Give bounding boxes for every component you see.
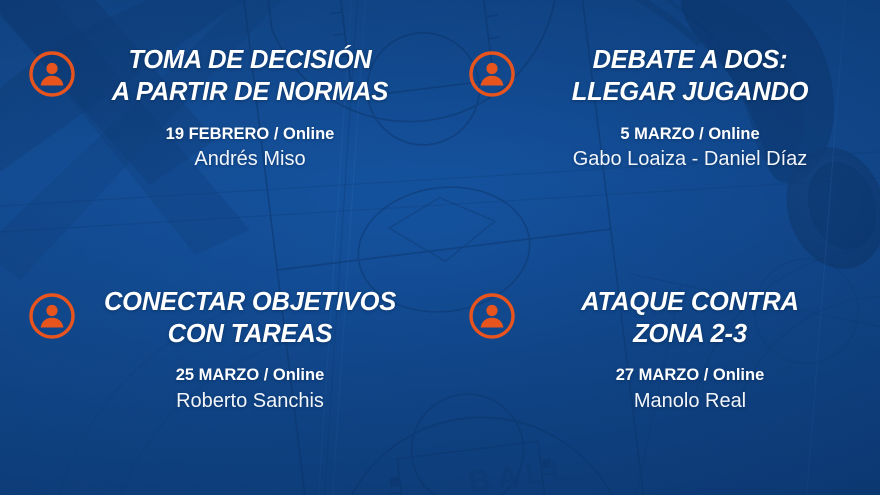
person-in-circle-icon — [28, 50, 76, 98]
event-1-title: TOMA DE DECISIÓN A PARTIR DE NORMAS — [84, 44, 416, 109]
person-in-circle-icon — [468, 292, 516, 340]
event-3-speaker: Roberto Sanchis — [84, 388, 416, 414]
event-4-date: 27 MARZO / Online — [524, 364, 856, 386]
event-card-1[interactable]: TOMA DE DECISIÓN A PARTIR DE NORMAS 19 F… — [0, 0, 440, 248]
event-2-speaker: Gabo Loaiza - Daniel Díaz — [524, 146, 856, 172]
event-2-date: 5 MARZO / Online — [524, 123, 856, 145]
event-3-date: 25 MARZO / Online — [84, 364, 416, 386]
event-1-speaker: Andrés Miso — [84, 146, 416, 172]
event-4-icon-wrap — [468, 292, 522, 340]
person-in-circle-icon — [28, 292, 76, 340]
event-4-speaker: Manolo Real — [524, 388, 856, 414]
person-in-circle-icon — [468, 50, 516, 98]
event-1-icon-wrap — [28, 50, 82, 98]
event-card-3[interactable]: CONECTAR OBJETIVOS CON TAREAS 25 MARZO /… — [0, 248, 440, 495]
event-2-title: DEBATE A DOS: LLEGAR JUGANDO — [524, 44, 856, 109]
event-card-2[interactable]: DEBATE A DOS: LLEGAR JUGANDO 5 MARZO / O… — [440, 0, 880, 248]
event-3-text: CONECTAR OBJETIVOS CON TAREAS 25 MARZO /… — [82, 286, 440, 414]
event-2-icon-wrap — [468, 50, 522, 98]
event-2-text: DEBATE A DOS: LLEGAR JUGANDO 5 MARZO / O… — [522, 44, 880, 172]
event-schedule-poster: BALL TOMA DE DECISIÓN A PARTIR DE NORMAS… — [0, 0, 880, 495]
event-4-title: ATAQUE CONTRA ZONA 2-3 — [524, 286, 856, 351]
event-3-icon-wrap — [28, 292, 82, 340]
events-grid: TOMA DE DECISIÓN A PARTIR DE NORMAS 19 F… — [0, 0, 880, 495]
event-1-date: 19 FEBRERO / Online — [84, 123, 416, 145]
event-card-4[interactable]: ATAQUE CONTRA ZONA 2-3 27 MARZO / Online… — [440, 248, 880, 495]
event-3-title: CONECTAR OBJETIVOS CON TAREAS — [84, 286, 416, 351]
event-4-text: ATAQUE CONTRA ZONA 2-3 27 MARZO / Online… — [522, 286, 880, 414]
event-1-text: TOMA DE DECISIÓN A PARTIR DE NORMAS 19 F… — [82, 44, 440, 172]
